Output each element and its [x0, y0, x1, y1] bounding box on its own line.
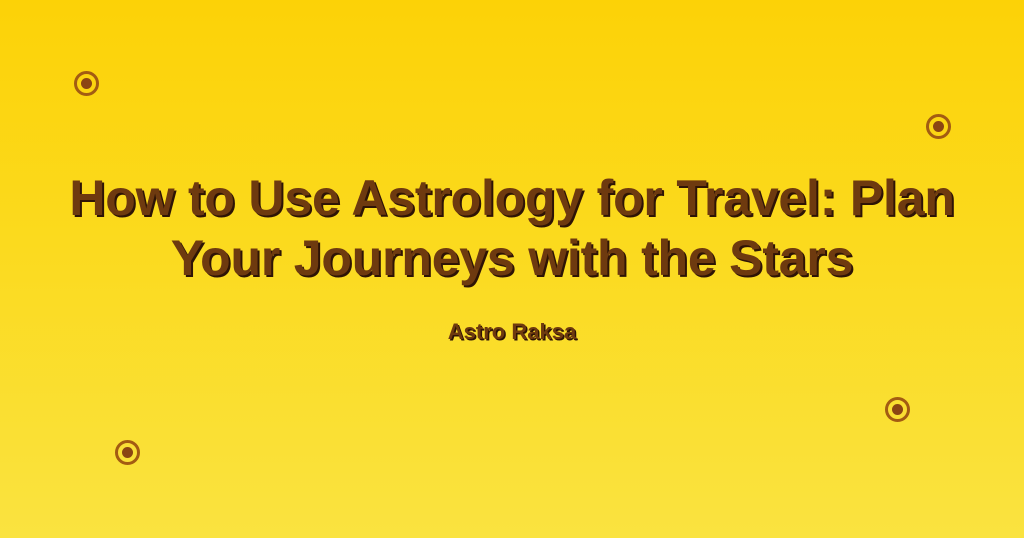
ring-center-dot	[892, 404, 903, 415]
ring-center-dot	[122, 447, 133, 458]
ring-dot-icon	[926, 114, 951, 139]
ring-dot-icon	[885, 397, 910, 422]
page-title: How to Use Astrology for Travel: Plan Yo…	[30, 168, 994, 288]
ring-center-dot	[81, 78, 92, 89]
title-slide: How to Use Astrology for Travel: Plan Yo…	[0, 0, 1024, 538]
title-text-block: How to Use Astrology for Travel: Plan Yo…	[0, 168, 1024, 345]
ring-dot-icon	[115, 440, 140, 465]
ring-center-dot	[933, 121, 944, 132]
page-subtitle-author: Astro Raksa	[30, 288, 994, 345]
ring-dot-icon	[74, 71, 99, 96]
